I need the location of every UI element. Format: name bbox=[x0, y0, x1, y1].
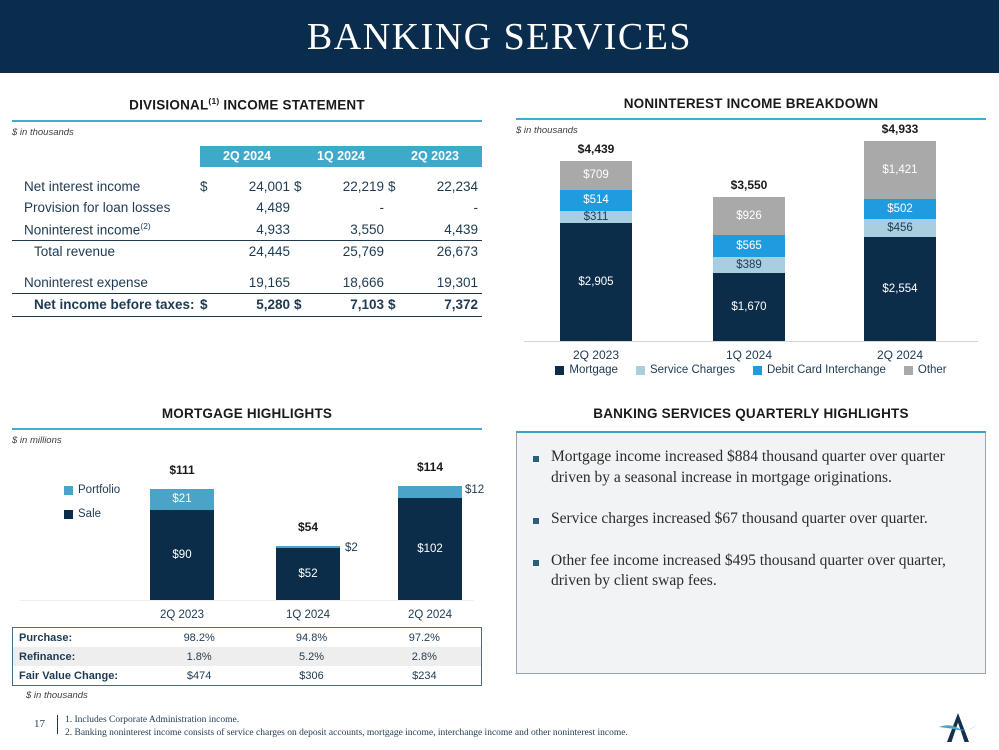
row-label: Purchase: bbox=[13, 628, 144, 648]
table-header-row: 2Q 2024 1Q 2024 2Q 2023 bbox=[12, 146, 482, 167]
mortgage-segment-sale-1: $52 bbox=[276, 548, 340, 600]
income-statement-table: 2Q 2024 1Q 2024 2Q 2023 Net interest inc… bbox=[12, 146, 482, 317]
row-label: Total revenue bbox=[12, 241, 200, 263]
x-axis-label-0: 2Q 2023 bbox=[548, 348, 644, 362]
spacer-row bbox=[12, 263, 482, 272]
quarterly-highlights-panel: BANKING SERVICES QUARTERLY HIGHLIGHTS Mo… bbox=[516, 406, 986, 674]
legend-item-service-charges: Service Charges bbox=[636, 364, 735, 376]
table-row: Fair Value Change: $474 $306 $234 bbox=[13, 666, 482, 686]
slide-header-banner: BANKING SERVICES bbox=[0, 0, 999, 73]
company-logo-icon bbox=[937, 710, 979, 746]
bar-segment-debit-card-1: $565 bbox=[713, 235, 785, 258]
legend-label-portfolio: Portfolio bbox=[78, 484, 120, 496]
row-value-0: $474 bbox=[143, 666, 255, 686]
row-label: Refinance: bbox=[13, 647, 144, 666]
bar-segment-service-charges-2: $456 bbox=[864, 219, 936, 238]
table-row: Refinance: 1.8% 5.2% 2.8% bbox=[13, 647, 482, 666]
row-value-2: 2.8% bbox=[368, 647, 482, 666]
divisional-income-statement-panel: DIVISIONAL(1) INCOME STATEMENT $ in thou… bbox=[12, 96, 482, 317]
legend-swatch-service-charges-icon bbox=[636, 366, 645, 375]
x-axis-label-1: 1Q 2024 bbox=[701, 348, 797, 362]
legend-item-sale: Sale bbox=[64, 508, 120, 520]
legend-swatch-mortgage-icon bbox=[555, 366, 564, 375]
row-label: Net interest income bbox=[12, 176, 200, 198]
bar-segment-debit-card-2: $502 bbox=[864, 199, 936, 219]
mortgage-chart-plot: Portfolio Sale $111 $21 $90 2Q 2023 $54 … bbox=[12, 456, 482, 601]
mortgage-segment-portfolio-label-2: $12 bbox=[465, 484, 484, 496]
row-value-1: 7,103 bbox=[310, 294, 388, 317]
legend-label-sale: Sale bbox=[78, 508, 101, 520]
bar-segment-mortgage-1: $1,670 bbox=[713, 273, 785, 341]
list-item: Other fee income increased $495 thousand… bbox=[533, 551, 969, 592]
column-header-1: 1Q 2024 bbox=[294, 146, 388, 167]
column-header-0: 2Q 2024 bbox=[200, 146, 294, 167]
highlight-text: Service charges increased $67 thousand q… bbox=[551, 509, 928, 530]
currency-spacer bbox=[200, 241, 216, 263]
row-value-0: 4,489 bbox=[216, 197, 294, 219]
bar-segment-mortgage-2: $2,554 bbox=[864, 237, 936, 341]
table-row: Provision for loan losses 4,489 - - bbox=[12, 197, 482, 219]
row-value-2: 4,439 bbox=[404, 219, 482, 241]
bar-total-label-0: $4,439 bbox=[560, 142, 632, 156]
stacked-bar-2: $1,421 $502 $456 $2,554 bbox=[864, 141, 936, 341]
row-value-2: 19,301 bbox=[404, 272, 482, 294]
bullet-icon bbox=[533, 456, 539, 462]
footnote-1: 1. Includes Corporate Administration inc… bbox=[65, 714, 628, 727]
currency-spacer bbox=[388, 272, 404, 294]
legend-swatch-portfolio-icon bbox=[64, 486, 73, 495]
quarterly-highlights-title: BANKING SERVICES QUARTERLY HIGHLIGHTS bbox=[516, 406, 986, 421]
row-footnote-marker: (2) bbox=[140, 221, 150, 231]
bar-segment-service-charges-0: $311 bbox=[560, 211, 632, 224]
row-value-0: 24,001 bbox=[216, 176, 294, 198]
row-value-1: 18,666 bbox=[310, 272, 388, 294]
row-value-1: 3,550 bbox=[310, 219, 388, 241]
legend-label-service-charges: Service Charges bbox=[650, 364, 735, 376]
noninterest-income-breakdown-panel: NONINTEREST INCOME BREAKDOWN $ in thousa… bbox=[516, 96, 986, 342]
mortgage-chart-rule bbox=[12, 428, 482, 430]
legend-item-mortgage: Mortgage bbox=[555, 364, 618, 376]
currency-spacer bbox=[200, 219, 216, 241]
table-row: Noninterest income(2) 4,933 3,550 4,439 bbox=[12, 219, 482, 241]
income-statement-title-main: DIVISIONAL bbox=[129, 98, 208, 113]
mortgage-x-label-0: 2Q 2023 bbox=[127, 609, 237, 621]
row-value-1: - bbox=[310, 197, 388, 219]
income-statement-units: $ in thousands bbox=[12, 127, 482, 138]
income-statement-title-rest: INCOME STATEMENT bbox=[219, 98, 364, 113]
income-statement-rule bbox=[12, 120, 482, 122]
currency-symbol: $ bbox=[294, 176, 310, 198]
row-value-0: 5,280 bbox=[216, 294, 294, 317]
row-label: Noninterest expense bbox=[12, 272, 200, 294]
table-row: Purchase: 98.2% 94.8% 97.2% bbox=[13, 628, 482, 648]
table-row-net-income: Net income before taxes: $ 5,280 $ 7,103… bbox=[12, 294, 482, 317]
mortgage-x-label-1: 1Q 2024 bbox=[253, 609, 363, 621]
stacked-bar-0: $709 $514 $311 $2,905 bbox=[560, 161, 632, 341]
row-value-2: - bbox=[404, 197, 482, 219]
currency-spacer bbox=[388, 219, 404, 241]
income-statement-title: DIVISIONAL(1) INCOME STATEMENT bbox=[12, 96, 482, 113]
column-header-2: 2Q 2023 bbox=[388, 146, 482, 167]
row-value-0: 1.8% bbox=[143, 647, 255, 666]
mortgage-segment-portfolio-2 bbox=[398, 486, 462, 498]
income-statement-title-footnote-marker: (1) bbox=[208, 96, 219, 106]
legend-item-portfolio: Portfolio bbox=[64, 484, 120, 496]
bar-segment-other-2: $1,421 bbox=[864, 141, 936, 199]
footnote-2: 2. Banking noninterest income consists o… bbox=[65, 727, 628, 740]
currency-spacer bbox=[388, 197, 404, 219]
slide-footer: 17 1. Includes Corporate Administration … bbox=[0, 704, 999, 750]
currency-symbol: $ bbox=[200, 294, 216, 317]
mortgage-stacked-bar-1: $52 bbox=[276, 546, 340, 600]
row-label: Net income before taxes: bbox=[12, 294, 200, 317]
bullet-icon bbox=[533, 518, 539, 524]
legend-item-other: Other bbox=[904, 364, 947, 376]
footnotes: 1. Includes Corporate Administration inc… bbox=[65, 714, 628, 741]
currency-symbol: $ bbox=[294, 294, 310, 317]
row-value-1: 25,769 bbox=[310, 241, 388, 263]
bar-total-label-2: $4,933 bbox=[864, 122, 936, 136]
noninterest-chart-rule bbox=[516, 118, 986, 120]
legend-label-debit-card: Debit Card Interchange bbox=[767, 364, 886, 376]
spacer-row bbox=[12, 167, 482, 176]
row-value-0: 24,445 bbox=[216, 241, 294, 263]
bar-segment-debit-card-0: $514 bbox=[560, 190, 632, 211]
currency-symbol: $ bbox=[200, 176, 216, 198]
highlight-text: Other fee income increased $495 thousand… bbox=[551, 551, 969, 592]
mortgage-stacked-bar-0: $21 $90 bbox=[150, 489, 214, 600]
bar-segment-other-0: $709 bbox=[560, 161, 632, 190]
mortgage-segment-sale-2: $102 bbox=[398, 498, 462, 600]
row-value-1: $306 bbox=[255, 666, 367, 686]
bullet-icon bbox=[533, 560, 539, 566]
currency-spacer bbox=[294, 197, 310, 219]
noninterest-chart-title: NONINTEREST INCOME BREAKDOWN bbox=[516, 96, 986, 111]
slide: BANKING SERVICES DIVISIONAL(1) INCOME ST… bbox=[0, 0, 999, 750]
row-value-1: 22,219 bbox=[310, 176, 388, 198]
highlight-text: Mortgage income increased $884 thousand … bbox=[551, 447, 969, 488]
currency-symbol: $ bbox=[388, 294, 404, 317]
legend-swatch-other-icon bbox=[904, 366, 913, 375]
mortgage-chart-title: MORTGAGE HIGHLIGHTS bbox=[12, 406, 482, 421]
currency-spacer bbox=[294, 241, 310, 263]
table-row: Noninterest expense 19,165 18,666 19,301 bbox=[12, 272, 482, 294]
currency-spacer bbox=[388, 241, 404, 263]
currency-spacer bbox=[200, 272, 216, 294]
mortgage-stats-table: Purchase: 98.2% 94.8% 97.2% Refinance: 1… bbox=[12, 627, 482, 686]
quarterly-highlights-box: Mortgage income increased $884 thousand … bbox=[516, 431, 986, 674]
footer-divider bbox=[57, 715, 58, 734]
mortgage-table-units: $ in thousands bbox=[26, 690, 482, 701]
bar-segment-mortgage-0: $2,905 bbox=[560, 223, 632, 341]
legend-label-other: Other bbox=[918, 364, 947, 376]
table-row-total-revenue: Total revenue 24,445 25,769 26,673 bbox=[12, 241, 482, 263]
mortgage-bar-total-0: $111 bbox=[150, 463, 214, 477]
noninterest-chart-axis bbox=[524, 341, 978, 342]
list-item: Mortgage income increased $884 thousand … bbox=[533, 447, 969, 488]
mortgage-highlights-panel: MORTGAGE HIGHLIGHTS $ in millions Portfo… bbox=[12, 406, 482, 701]
row-value-1: 94.8% bbox=[255, 628, 367, 648]
bar-segment-service-charges-1: $389 bbox=[713, 257, 785, 273]
slide-title: BANKING SERVICES bbox=[307, 15, 692, 59]
row-value-0: 98.2% bbox=[143, 628, 255, 648]
row-value-0: 4,933 bbox=[216, 219, 294, 241]
row-label-text: Noninterest income bbox=[24, 223, 140, 238]
legend-swatch-sale-icon bbox=[64, 510, 73, 519]
noninterest-chart-plot: $4,439 $709 $514 $311 $2,905 2Q 2023 $3,… bbox=[516, 142, 986, 342]
mortgage-segment-portfolio-label-1: $2 bbox=[345, 542, 358, 554]
bar-segment-other-1: $926 bbox=[713, 197, 785, 235]
row-label: Noninterest income(2) bbox=[12, 219, 200, 241]
mortgage-bar-total-1: $54 bbox=[276, 520, 340, 534]
row-value-2: 26,673 bbox=[404, 241, 482, 263]
noninterest-chart-legend: Mortgage Service Charges Debit Card Inte… bbox=[516, 364, 986, 376]
page-number: 17 bbox=[34, 718, 45, 730]
row-value-2: 7,372 bbox=[404, 294, 482, 317]
x-axis-label-2: 2Q 2024 bbox=[852, 348, 948, 362]
mortgage-segment-sale-0: $90 bbox=[150, 510, 214, 600]
row-value-2: 97.2% bbox=[368, 628, 482, 648]
mortgage-x-label-2: 2Q 2024 bbox=[375, 609, 485, 621]
row-value-0: 19,165 bbox=[216, 272, 294, 294]
legend-item-debit-card: Debit Card Interchange bbox=[753, 364, 886, 376]
mortgage-chart-axis bbox=[20, 600, 474, 602]
currency-spacer bbox=[294, 219, 310, 241]
mortgage-bar-total-2: $114 bbox=[398, 460, 462, 474]
currency-spacer bbox=[294, 272, 310, 294]
mortgage-stacked-bar-2: $102 bbox=[398, 486, 462, 600]
mortgage-chart-legend: Portfolio Sale bbox=[64, 484, 120, 532]
table-row: Net interest income $ 24,001 $ 22,219 $ … bbox=[12, 176, 482, 198]
row-value-2: 22,234 bbox=[404, 176, 482, 198]
legend-label-mortgage: Mortgage bbox=[569, 364, 618, 376]
header-spacer bbox=[12, 146, 200, 167]
list-item: Service charges increased $67 thousand q… bbox=[533, 509, 969, 530]
row-label: Provision for loan losses bbox=[12, 197, 200, 219]
currency-symbol: $ bbox=[388, 176, 404, 198]
row-value-2: $234 bbox=[368, 666, 482, 686]
bar-total-label-1: $3,550 bbox=[713, 178, 785, 192]
stacked-bar-1: $926 $565 $389 $1,670 bbox=[713, 197, 785, 341]
mortgage-segment-portfolio-0: $21 bbox=[150, 489, 214, 510]
row-value-1: 5.2% bbox=[255, 647, 367, 666]
legend-swatch-debit-card-icon bbox=[753, 366, 762, 375]
currency-spacer bbox=[200, 197, 216, 219]
row-label: Fair Value Change: bbox=[13, 666, 144, 686]
mortgage-chart-units: $ in millions bbox=[12, 435, 482, 446]
